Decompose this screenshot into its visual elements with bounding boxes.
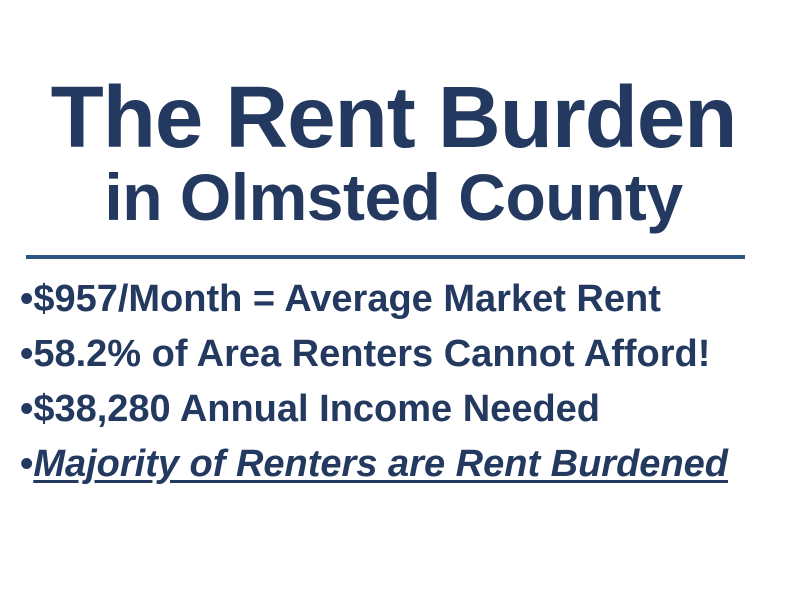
bullet-point-icon: • bbox=[20, 437, 33, 492]
bullet-point-icon: • bbox=[20, 272, 33, 327]
list-item-label: $38,280 Annual Income Needed bbox=[33, 382, 600, 437]
title-divider-rule bbox=[26, 255, 745, 259]
title-block: The Rent Burden in Olmsted County bbox=[0, 72, 787, 232]
bullet-list: • $957/Month = Average Market Rent • 58.… bbox=[20, 272, 780, 492]
list-item: • $38,280 Annual Income Needed bbox=[20, 382, 780, 437]
list-item: • 58.2% of Area Renters Cannot Afford! bbox=[20, 327, 780, 382]
list-item-label: $957/Month = Average Market Rent bbox=[33, 272, 661, 327]
page-subtitle: in Olmsted County bbox=[26, 162, 761, 232]
list-item-label-emphasized: Majority of Renters are Rent Burdened bbox=[33, 437, 728, 492]
list-item: • $957/Month = Average Market Rent bbox=[20, 272, 780, 327]
bullet-point-icon: • bbox=[20, 327, 33, 382]
bullet-point-icon: • bbox=[20, 382, 33, 437]
list-item: • Majority of Renters are Rent Burdened bbox=[20, 437, 780, 492]
list-item-label: 58.2% of Area Renters Cannot Afford! bbox=[33, 327, 710, 382]
slide-canvas: The Rent Burden in Olmsted County • $957… bbox=[0, 0, 787, 605]
page-title: The Rent Burden bbox=[26, 72, 761, 164]
